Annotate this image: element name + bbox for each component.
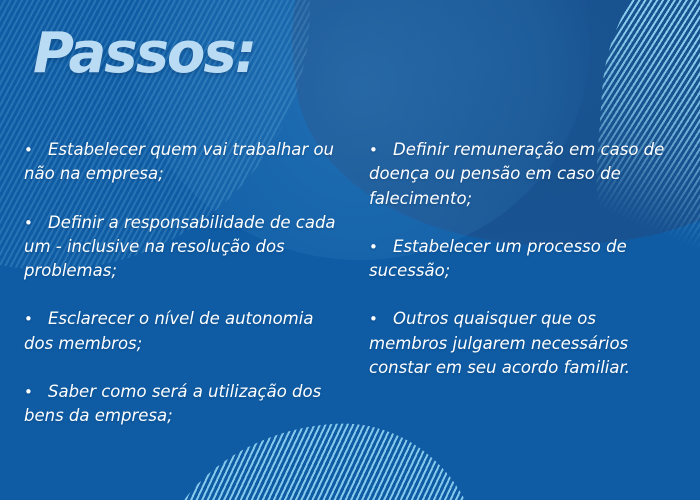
bullet-dot-icon: • (24, 381, 48, 403)
slide-content: Passos: •Estabelecer quem vai trabalhar … (0, 0, 700, 500)
bullet-dot-icon: • (24, 308, 48, 330)
bullet-column-right: •Definir remuneração em caso de doença o… (369, 138, 669, 404)
slide-canvas: Passos: •Estabelecer quem vai trabalhar … (0, 0, 700, 500)
list-item-text: Saber como será a utilização dos bens da… (24, 382, 321, 425)
list-item: •Definir remuneração em caso de doença o… (369, 138, 669, 211)
bullet-dot-icon: • (24, 212, 48, 234)
list-item: •Outros quaisquer que os membros julgare… (369, 307, 669, 380)
page-title: Passos: (33, 26, 255, 82)
bullet-dot-icon: • (369, 236, 393, 258)
bullet-dot-icon: • (369, 308, 393, 330)
bullet-column-left: •Estabelecer quem vai trabalhar ou não n… (24, 138, 336, 452)
bullet-dot-icon: • (369, 139, 393, 161)
list-item: •Saber como será a utilização dos bens d… (24, 380, 336, 429)
list-item-text: Estabelecer quem vai trabalhar ou não na… (24, 140, 334, 183)
list-item-text: Definir remuneração em caso de doença ou… (369, 140, 664, 208)
list-item-text: Definir a responsabilidade de cada um - … (24, 213, 336, 281)
list-item: •Estabelecer um processo de sucessão; (369, 235, 669, 284)
list-item: •Estabelecer quem vai trabalhar ou não n… (24, 138, 336, 187)
list-item-text: Estabelecer um processo de sucessão; (369, 237, 627, 280)
bullet-dot-icon: • (24, 139, 48, 161)
list-item-text: Esclarecer o nível de autonomia dos memb… (24, 309, 313, 352)
list-item: •Esclarecer o nível de autonomia dos mem… (24, 307, 336, 356)
list-item-text: Outros quaisquer que os membros julgarem… (369, 309, 630, 377)
list-item: •Definir a responsabilidade de cada um -… (24, 211, 336, 284)
